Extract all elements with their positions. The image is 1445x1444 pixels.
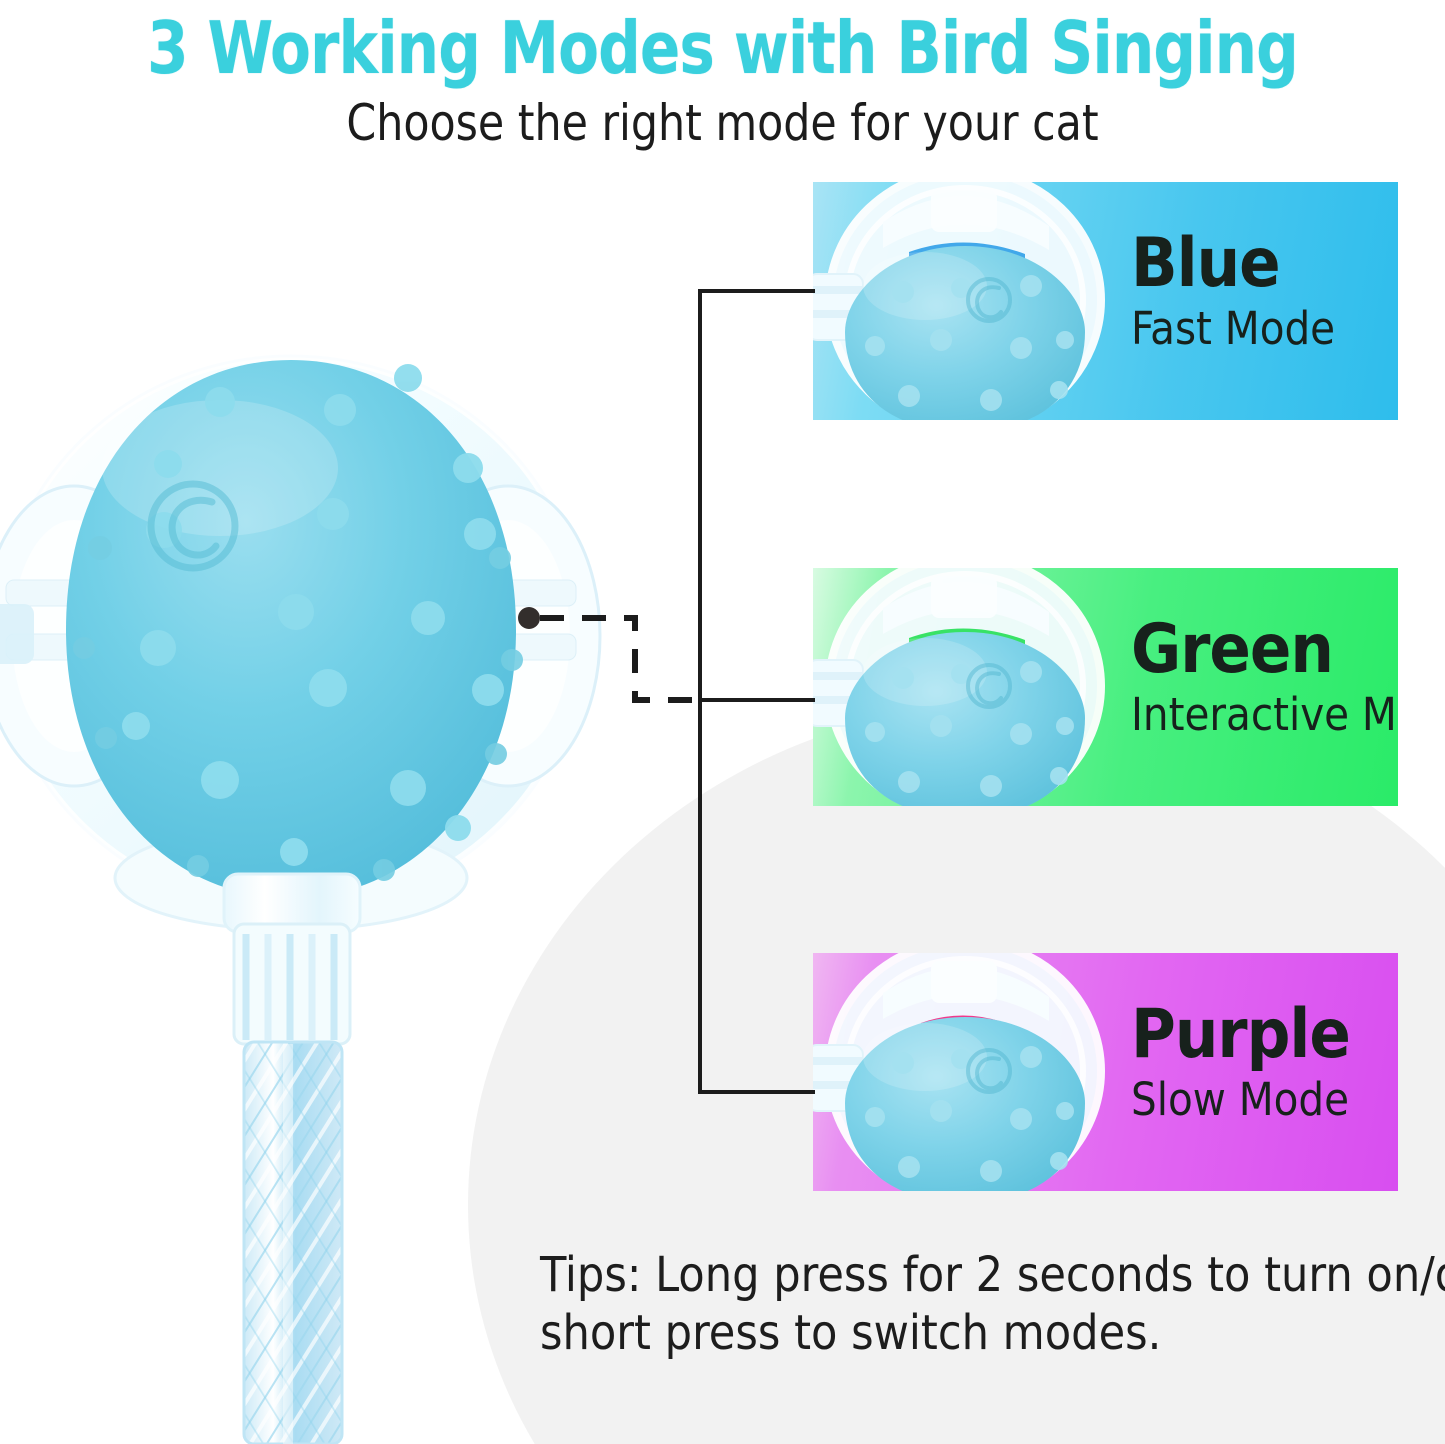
product-wand	[244, 1042, 342, 1444]
mode-label-blue: Fast Mode	[1131, 302, 1391, 356]
page-title: 3 Working Modes with Bird Singing	[58, 6, 1387, 90]
product-image	[0, 318, 608, 1444]
product-illustration	[0, 318, 608, 1444]
ball-blue-led-icon	[813, 182, 1113, 420]
product-neck	[224, 874, 360, 1044]
mode-name-green: Green	[1131, 612, 1391, 688]
mode-card-purple-text: Purple Slow Mode	[1131, 997, 1391, 1127]
mode-name-purple: Purple	[1131, 997, 1391, 1073]
ball-purple-led-icon	[813, 953, 1113, 1191]
mode-label-purple: Slow Mode	[1131, 1073, 1391, 1127]
mode-card-green-text: Green Interactive Mode	[1131, 612, 1391, 742]
product-silicone-ball	[66, 360, 523, 898]
infographic-canvas: 3 Working Modes with Bird Singing Choose…	[0, 0, 1445, 1444]
page-subtitle: Choose the right mode for your cat	[36, 95, 1409, 151]
mode-card-green[interactable]: Green Interactive Mode	[813, 568, 1398, 806]
mode-card-purple[interactable]: Purple Slow Mode	[813, 953, 1398, 1191]
callout-dot	[518, 607, 540, 629]
tips-line-2: short press to switch modes.	[540, 1304, 1430, 1362]
mode-label-green: Interactive Mode	[1131, 688, 1391, 742]
mode-card-blue-text: Blue Fast Mode	[1131, 226, 1391, 356]
mode-card-blue[interactable]: Blue Fast Mode	[813, 182, 1398, 420]
tips-line-1: Tips: Long press for 2 seconds to turn o…	[540, 1246, 1430, 1304]
mode-name-blue: Blue	[1131, 226, 1391, 302]
tips-text: Tips: Long press for 2 seconds to turn o…	[540, 1246, 1430, 1362]
ball-green-led-icon	[813, 568, 1113, 806]
